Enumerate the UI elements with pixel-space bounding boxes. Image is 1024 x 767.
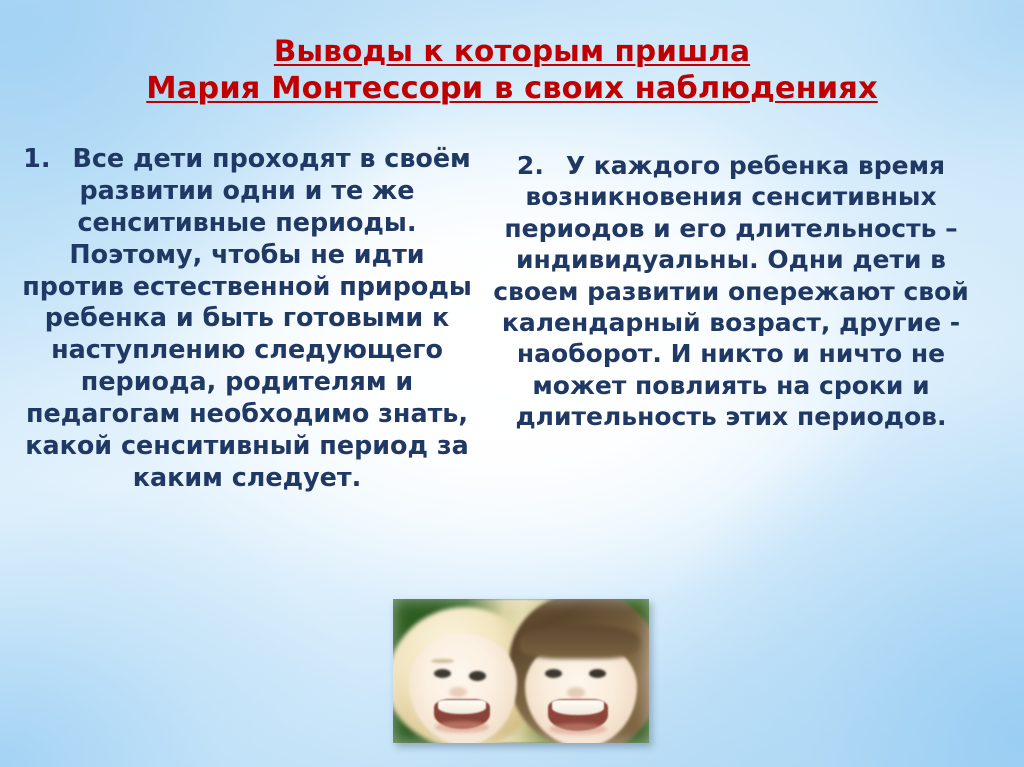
photo-left-child-eye-left — [434, 669, 451, 678]
photo-left-child-eye-right — [469, 671, 486, 681]
photo-left-child-lower-lip — [435, 721, 489, 733]
body-text-right: У каждого ребенка время возникновения се… — [493, 151, 969, 431]
body-column-right: 2.У каждого ребенка время возникновения … — [478, 150, 984, 432]
body-column-left: 1.Все дети проходят в своём развитии одн… — [18, 143, 476, 494]
slide-canvas: Выводы к которым пришла Мария Монтессори… — [0, 0, 1024, 767]
children-photo-image — [393, 599, 649, 743]
photo-right-child-eye-left — [545, 669, 562, 678]
photo-left-child-nose — [449, 687, 467, 697]
body-text-left: Все дети проходят в своём развитии одни … — [22, 143, 472, 492]
photo-right-child-fringe — [519, 625, 641, 659]
list-number-2: 2. — [517, 151, 544, 180]
photo-left-child-brow — [431, 659, 454, 663]
photo-right-child-lower-lip — [549, 723, 607, 735]
title-line-2-text: Мария Монтессори в своих наблюдениях — [146, 71, 878, 106]
slide-title: Выводы к которым пришла Мария Монтессори… — [0, 36, 1024, 106]
children-photo — [393, 599, 649, 743]
title-line-1-text: Выводы к которым пришла — [274, 34, 750, 68]
title-line-2: Мария Монтессори в своих наблюдениях — [0, 73, 1024, 106]
title-line-1: Выводы к которым пришла — [0, 36, 1024, 68]
photo-right-child-nose — [567, 687, 585, 698]
photo-right-child-eye-right — [589, 669, 606, 678]
photo-right-child-teeth — [552, 700, 604, 715]
list-number-1: 1. — [23, 143, 50, 173]
slide-content: Выводы к которым пришла Мария Монтессори… — [0, 0, 1024, 767]
photo-left-child-teeth — [438, 700, 486, 714]
